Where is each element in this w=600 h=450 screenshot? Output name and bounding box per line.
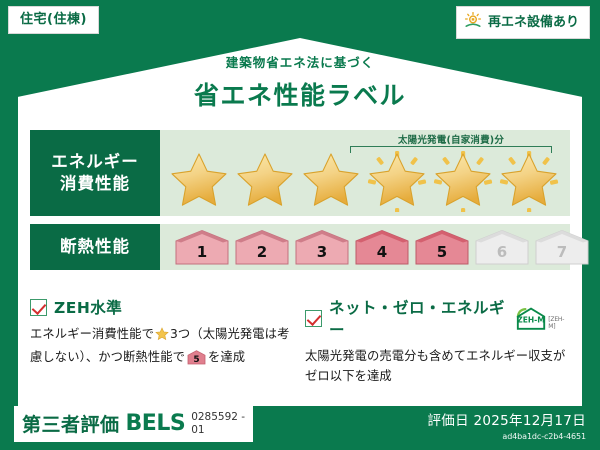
document-id: ad4ba1dc-c2b4-4651 xyxy=(427,432,586,441)
nze-note-title: ネット・ゼロ・エネルギー xyxy=(329,296,510,340)
criteria-notes: ZEH水準 エネルギー消費性能で3つ（太陽光発電は考慮しない）、かつ断熱性能で5… xyxy=(30,296,570,387)
energy-performance-row: エネルギー 消費性能 太陽光発電(自家消費)分 xyxy=(30,130,570,216)
inline-star-icon xyxy=(155,327,169,348)
star-rating xyxy=(166,148,562,212)
insulation-level-7: 7 xyxy=(534,229,590,266)
title-block: 建築物省エネ法に基づく 省エネ性能ラベル xyxy=(0,52,600,112)
building-type-tag: 住宅(住棟) xyxy=(8,6,99,34)
check-icon xyxy=(305,310,322,327)
star-solar xyxy=(430,148,496,212)
insulation-level-4: 4 xyxy=(354,229,410,266)
zeh-note-title: ZEH水準 xyxy=(54,296,122,318)
footer-meta: 評価日 2025年12月17日 ad4ba1dc-c2b4-4651 xyxy=(427,409,586,441)
evaluation-date: 評価日 2025年12月17日 xyxy=(427,409,586,429)
insulation-level-6: 6 xyxy=(474,229,530,266)
insulation-level-5: 5 xyxy=(414,229,470,266)
zeh-note-header: ZEH水準 xyxy=(30,296,300,318)
star-base xyxy=(298,148,364,212)
zeh-standard-note: ZEH水準 エネルギー消費性能で3つ（太陽光発電は考慮しない）、かつ断熱性能で5… xyxy=(30,296,300,387)
energy-performance-body: 太陽光発電(自家消費)分 xyxy=(160,130,570,216)
renewable-badge-label: 再エネ設備あり xyxy=(488,16,579,29)
star-solar xyxy=(496,148,562,212)
net-zero-energy-note: ネット・ゼロ・エネルギー ZEH-M [ZEH-M] 太陽光発電の売電分も含めて… xyxy=(300,296,570,387)
insulation-level-3: 3 xyxy=(294,229,350,266)
star-base xyxy=(232,148,298,212)
nze-note-header: ネット・ゼロ・エネルギー ZEH-M [ZEH-M] xyxy=(305,296,570,340)
check-icon xyxy=(30,299,47,316)
zeh-m-logo: ZEH-M [ZEH-M] xyxy=(515,305,570,332)
insulation-performance-row: 断熱性能 1 2 3 4 5 6 7 xyxy=(30,224,570,270)
renewable-energy-badge: 再エネ設備あり xyxy=(456,6,590,39)
zeh-m-caption: [ZEH-M] xyxy=(548,316,570,332)
star-base xyxy=(166,148,232,212)
zeh-note-body: エネルギー消費性能で3つ（太陽光発電は考慮しない）、かつ断熱性能で5を達成 xyxy=(30,325,300,368)
nze-note-body: 太陽光発電の売電分も含めてエネルギー収支がゼロ以下を達成 xyxy=(305,347,570,387)
title-subtitle: 建築物省エネ法に基づく xyxy=(0,52,600,71)
page-title: 省エネ性能ラベル xyxy=(0,76,600,112)
solar-bracket-label: 太陽光発電(自家消費)分 xyxy=(346,132,556,146)
insulation-level-2: 2 xyxy=(234,229,290,266)
sun-icon xyxy=(464,12,482,32)
footer-bar: 第三者評価 BELS 0285592 - 01 評価日 2025年12月17日 … xyxy=(0,406,600,450)
insulation-level-1: 1 xyxy=(174,229,230,266)
bels-certification: 第三者評価 BELS 0285592 - 01 xyxy=(14,406,253,442)
insulation-performance-body: 1 2 3 4 5 6 7 xyxy=(160,224,570,270)
inline-house-level-icon: 5 xyxy=(187,350,206,365)
bels-en-label: BELS xyxy=(126,411,186,436)
rating-rows: エネルギー 消費性能 太陽光発電(自家消費)分 xyxy=(30,130,570,278)
svg-text:ZEH-M: ZEH-M xyxy=(517,315,545,324)
energy-performance-label: エネルギー 消費性能 xyxy=(30,130,160,216)
star-solar xyxy=(364,148,430,212)
label-canvas: 住宅(住棟) 再エネ設備あり 建築物省エネ法に基づく 省エネ性能ラベル xyxy=(0,0,600,450)
bels-jp-label: 第三者評価 xyxy=(22,410,120,437)
certificate-number: 0285592 - 01 xyxy=(191,411,245,436)
insulation-performance-label: 断熱性能 xyxy=(30,224,160,270)
insulation-level-scale: 1 2 3 4 5 6 7 xyxy=(174,229,590,266)
